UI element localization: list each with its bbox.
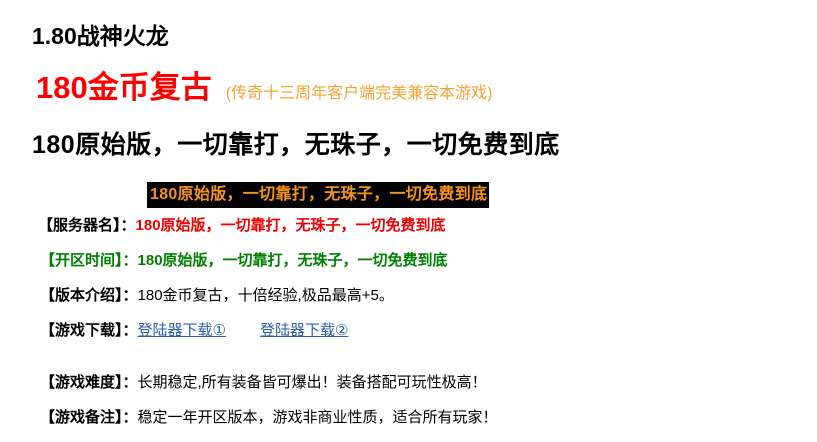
- server-name-label: 【服务器名】：: [38, 217, 136, 234]
- info-row-version: 【版本介绍】：180金币复古，十倍经验,极品最高+5。: [40, 288, 394, 304]
- open-time-label: 【开区时间】：: [40, 252, 138, 269]
- download-link-2[interactable]: 登陆器下载②: [260, 322, 348, 339]
- version-label: 【版本介绍】：: [40, 287, 138, 304]
- title-note: (传奇十三周年客户端完美兼容本游戏): [226, 82, 493, 106]
- server-name-value: 180原始版，一切靠打，无珠子，一切免费到底: [136, 217, 446, 234]
- difficulty-label: 【游戏难度】：: [40, 374, 138, 391]
- difficulty-value: 长期稳定,所有装备皆可爆出！装备搭配可玩性极高！: [138, 374, 487, 391]
- highlight-banner: 180原始版，一切靠打，无珠子，一切免费到底: [147, 182, 489, 208]
- info-row-open-time: 【开区时间】：180原始版，一切靠打，无珠子，一切免费到底: [40, 253, 448, 269]
- info-row-download: 【游戏下载】：登陆器下载①登陆器下载②: [40, 323, 348, 339]
- remark-label: 【游戏备注】：: [40, 409, 138, 426]
- remark-value: 稳定一年开区版本，游戏非商业性质，适合所有玩家！: [138, 409, 498, 426]
- page-title-red: 180金币复古: [36, 70, 212, 106]
- main-headline: 1.80战神火龙: [32, 22, 169, 50]
- download-link-1[interactable]: 登陆器下载①: [138, 322, 226, 339]
- info-row-remark: 【游戏备注】：稳定一年开区版本，游戏非商业性质，适合所有玩家！: [40, 410, 498, 426]
- version-value: 180金币复古，十倍经验,极品最高+5。: [138, 287, 394, 304]
- info-row-server-name: 【服务器名】：180原始版，一切靠打，无珠子，一切免费到底: [38, 218, 446, 234]
- info-row-difficulty: 【游戏难度】：长期稳定,所有装备皆可爆出！装备搭配可玩性极高！: [40, 375, 487, 391]
- open-time-value: 180原始版，一切靠打，无珠子，一切免费到底: [138, 252, 448, 269]
- download-label: 【游戏下载】：: [40, 322, 138, 339]
- title-row: 180金币复古 (传奇十三周年客户端完美兼容本游戏): [36, 70, 492, 106]
- game-server-info-page: 1.80战神火龙 180金币复古 (传奇十三周年客户端完美兼容本游戏) 180原…: [0, 0, 817, 442]
- slogan-headline: 180原始版，一切靠打，无珠子，一切免费到底: [32, 129, 560, 161]
